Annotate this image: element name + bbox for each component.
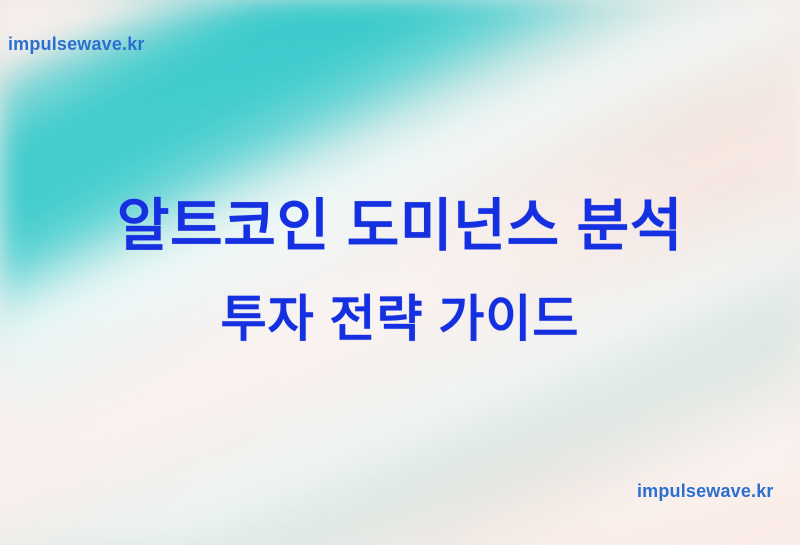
title-line-2: 투자 전략 가이드	[0, 294, 800, 344]
watermark-top-left: impulsewave.kr	[8, 34, 145, 55]
title-line-1: 알트코인 도미넌스 분석	[0, 198, 800, 255]
page-title: 알트코인 도미넌스 분석 투자 전략 가이드	[0, 0, 800, 545]
title-card: 알트코인 도미넌스 분석 투자 전략 가이드 impulsewave.kr im…	[0, 0, 800, 545]
watermark-bottom-right: impulsewave.kr	[637, 481, 774, 502]
